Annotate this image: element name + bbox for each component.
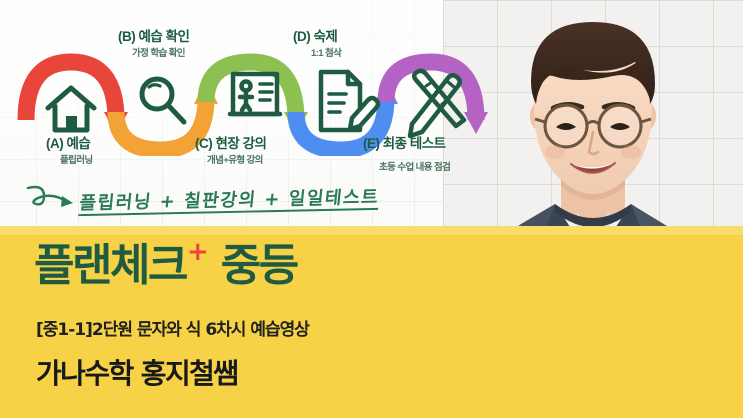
flow-step-e-label: (E) 최종 테스트 초등 수업 내용 점검 xyxy=(363,136,450,173)
teacher-name: 가나수학 홍지철쌤 xyxy=(36,352,237,392)
banner-top-highlight xyxy=(0,226,743,235)
brand-title-plus-icon: + xyxy=(187,241,209,263)
handwritten-summary: 플립러닝 + 칠판강의 + 일일테스트 xyxy=(78,183,380,215)
lecture-thumbnail: (A) 예습 플립러닝 (B) 예습 확인 가정 학습 확인 (C) 현장 강의… xyxy=(0,0,743,418)
arrow-purple xyxy=(386,62,488,134)
flow-step-a-title: (A) 예습 xyxy=(46,136,93,151)
flow-step-c-sub: 개념+유형 강의 xyxy=(207,152,266,166)
learning-flow-diagram: (A) 예습 플립러닝 (B) 예습 확인 가정 학습 확인 (C) 현장 강의… xyxy=(0,0,520,232)
flow-step-d-title: (D) 숙제 xyxy=(293,29,341,44)
squiggle-arrow-icon xyxy=(22,182,78,216)
whiteboard-icon xyxy=(230,74,280,114)
flow-step-a-sub: 플립러닝 xyxy=(60,152,93,166)
flow-step-c-title: (C) 현장 강의 xyxy=(195,136,266,151)
brand-title-main: 플랜체크 xyxy=(34,243,186,289)
flow-step-c-label: (C) 현장 강의 개념+유형 강의 xyxy=(195,136,266,166)
home-icon xyxy=(48,88,94,130)
magnifier-icon xyxy=(142,79,184,122)
lecture-subtitle: [중1-1]2단원 문자와 식 6차시 예습영상 xyxy=(36,315,309,340)
brand-title-level: 중등 xyxy=(221,243,297,289)
flow-step-b-label: (B) 예습 확인 가정 학습 확인 xyxy=(118,29,189,59)
flow-step-b-title: (B) 예습 확인 xyxy=(118,29,189,44)
flow-step-a-label: (A) 예습 플립러닝 xyxy=(46,136,93,166)
flow-step-d-label: (D) 숙제 1:1 첨삭 xyxy=(293,29,341,59)
pencil-ruler-icon xyxy=(410,71,464,136)
flow-step-e-sub: 초등 수업 내용 점검 xyxy=(379,159,450,173)
flow-step-d-sub: 1:1 첨삭 xyxy=(311,45,341,59)
document-pen-icon xyxy=(321,72,378,130)
title-banner: 플랜체크 + 중등 [중1-1]2단원 문자와 식 6차시 예습영상 가나수학 … xyxy=(0,226,743,418)
brand-title-row: 플랜체크 + 중등 xyxy=(34,243,297,289)
flow-step-e-title: (E) 최종 테스트 xyxy=(363,136,450,151)
flow-step-b-sub: 가정 학습 확인 xyxy=(132,45,189,59)
